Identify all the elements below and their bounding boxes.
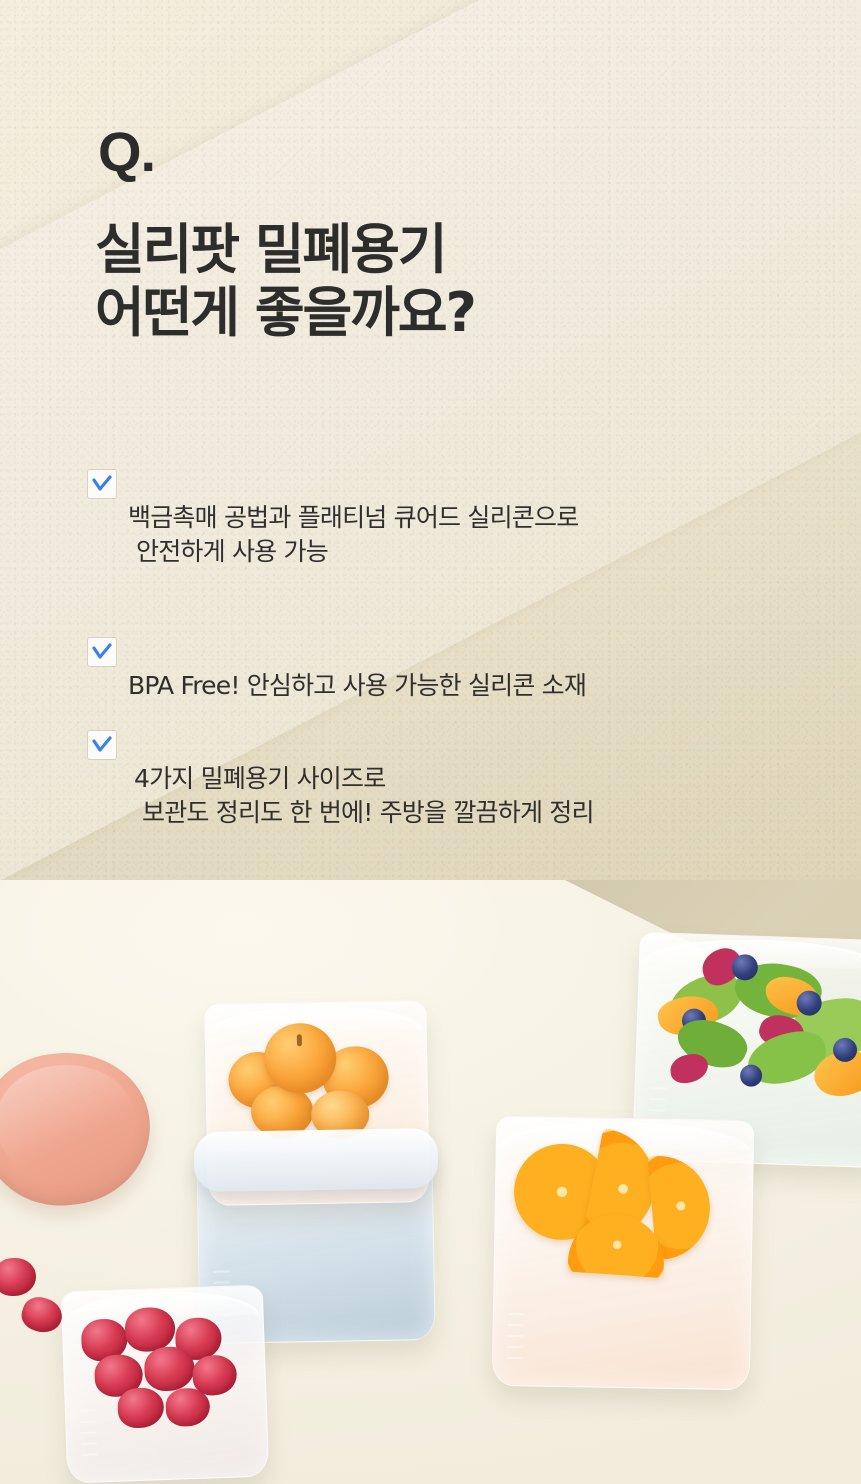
list-item-line-2: 보관도 정리도 한 번에! 주방을 깔끔하게 정리 [134,796,594,831]
list-item: BPA Free! 안심하고 사용 가능한 실리콘 소재 [88,634,828,703]
measure-ticks [507,1313,524,1367]
check-icon [88,470,116,498]
measure-ticks [80,1409,98,1464]
headline-line-1: 실리팟 밀폐용기 [95,218,795,281]
blueberry [740,1064,763,1087]
stack-lid-ring [193,1128,438,1192]
raspberry [124,1307,176,1353]
list-item-line-1: 백금촉매 공법과 플래티넘 큐어드 실리콘으로 [128,503,578,532]
list-item-text: 4가지 밀폐용기 사이즈로 보관도 정리도 한 번에! 주방을 깔끔하게 정리 [128,727,594,865]
check-icon [88,638,116,666]
question-mark-label: Q. [98,124,155,180]
list-item-line-1: 4가지 밀폐용기 사이즈로 [134,764,385,793]
page-title: 실리팟 밀폐용기 어떤게 좋을까요? [95,218,795,344]
radicchio-piece [669,1052,711,1085]
product-photo [0,880,861,1484]
list-item: 백금촉매 공법과 플래티넘 큐어드 실리콘으로 안전하게 사용 가능 [88,466,828,604]
list-item-line-2: 안전하게 사용 가능 [128,535,578,570]
raspberry [165,1387,210,1427]
raspberry-container [61,1285,270,1484]
apricot-fill [218,1019,416,1132]
raspberry [117,1387,164,1429]
check-icon [88,731,116,759]
headline-line-2: 어떤게 좋을까요? [95,281,795,344]
list-item-line-1: BPA Free! 안심하고 사용 가능한 실리콘 소재 [128,671,586,700]
list-item: 4가지 밀폐용기 사이즈로 보관도 정리도 한 번에! 주방을 깔끔하게 정리 [88,727,828,865]
orange-slice-container [492,1116,755,1390]
raspberry [144,1346,196,1392]
list-item-text: 백금촉매 공법과 플래티넘 큐어드 실리콘으로 안전하게 사용 가능 [128,466,578,604]
list-item-text: BPA Free! 안심하고 사용 가능한 실리콘 소재 [128,634,586,703]
product-detail-page: Q. 실리팟 밀폐용기 어떤게 좋을까요? 백금촉매 공법과 플래티넘 큐어드 … [0,0,861,1484]
